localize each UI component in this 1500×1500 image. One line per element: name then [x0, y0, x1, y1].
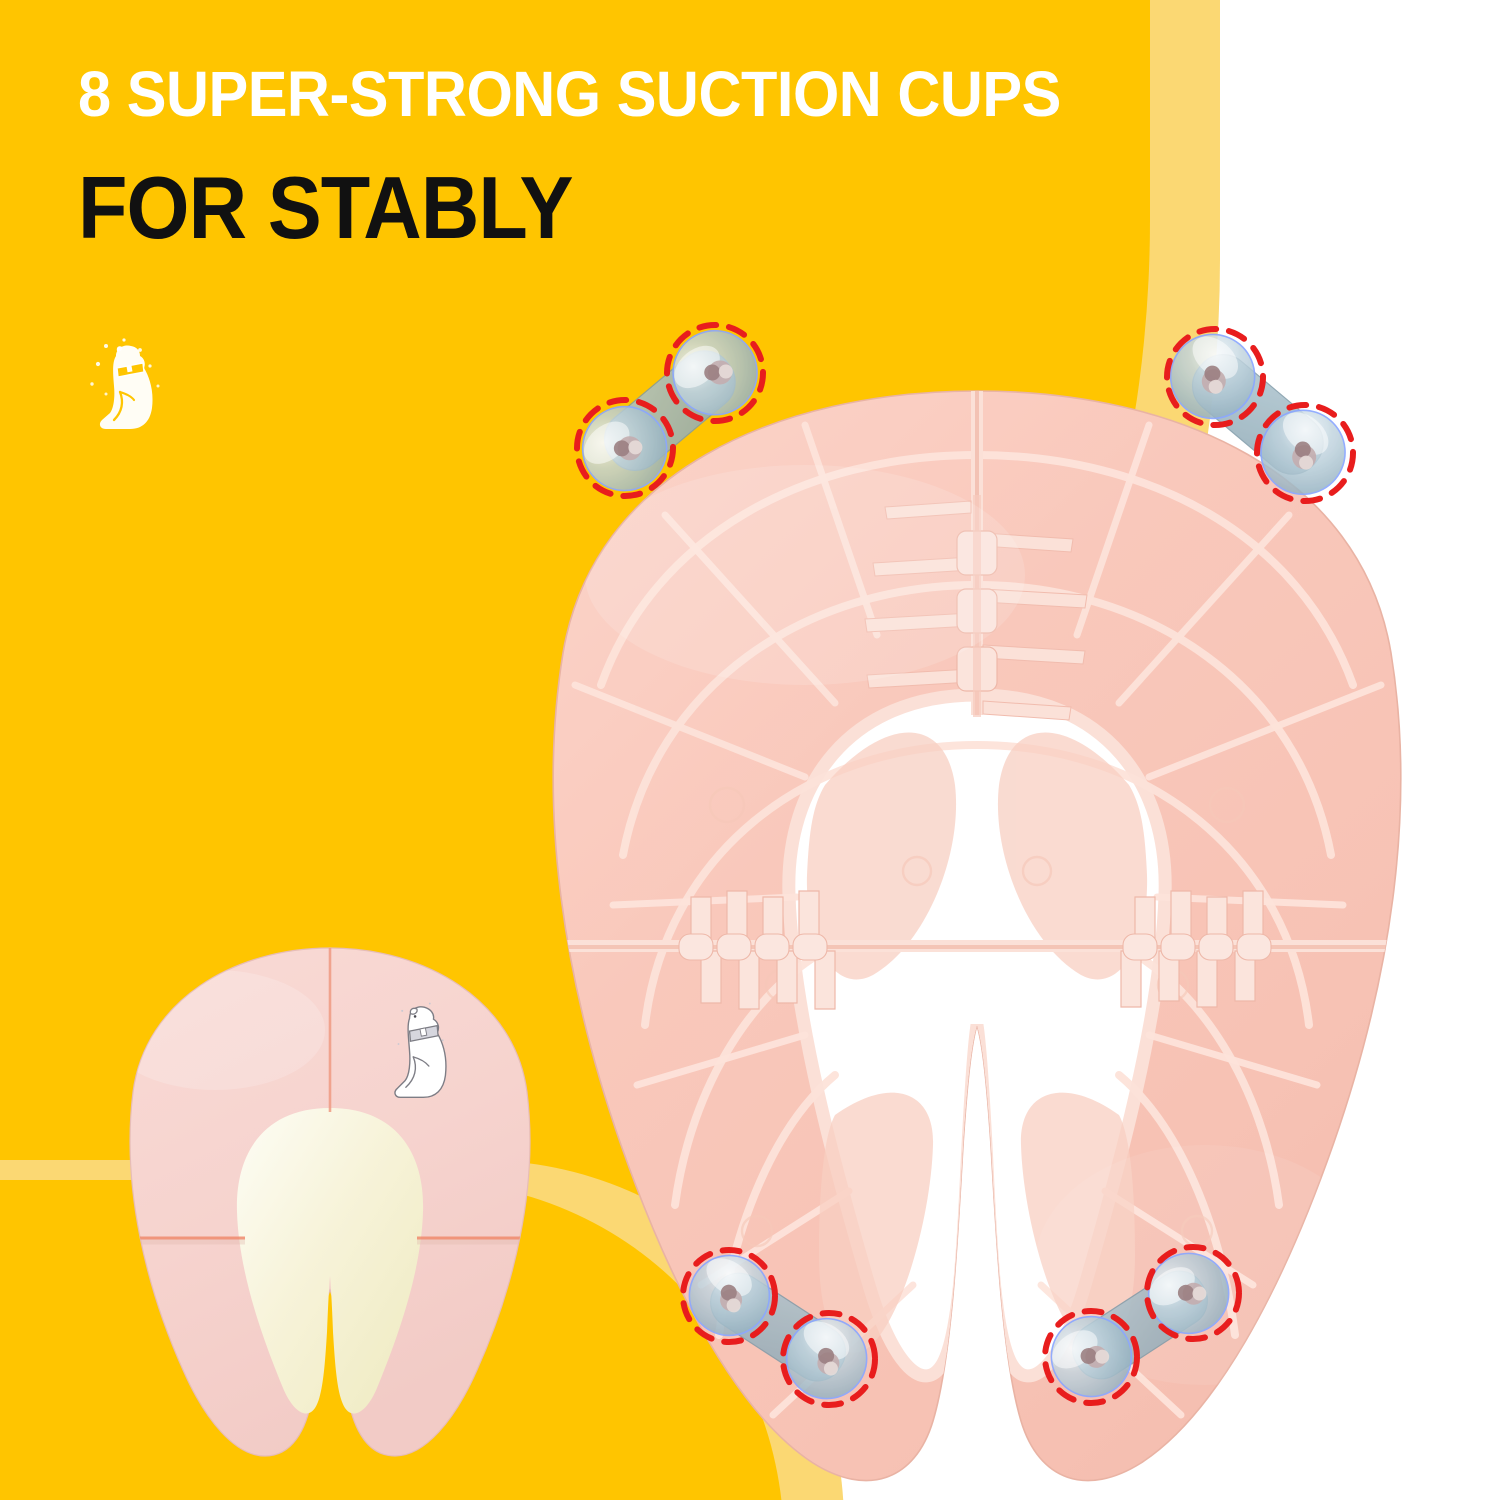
headline-block: 8 SUPER-STRONG SUCTION CUPS FOR STABLY	[78, 62, 1135, 252]
folded-toilet-seat-photo	[95, 940, 565, 1485]
white-bear-logo-icon	[76, 330, 186, 445]
headline-primary: 8 SUPER-STRONG SUCTION CUPS	[78, 62, 1061, 126]
folded-seat-body	[105, 946, 547, 1456]
folded-seat-illustration	[95, 940, 565, 1485]
product-marketing-banner: 8 SUPER-STRONG SUCTION CUPS FOR STABLY	[0, 0, 1500, 1500]
open-seat-illustration	[505, 385, 1450, 1495]
headline-secondary: FOR STABLY	[78, 164, 1050, 252]
brand-logo	[76, 330, 186, 445]
open-toilet-seat-photo	[505, 385, 1450, 1495]
